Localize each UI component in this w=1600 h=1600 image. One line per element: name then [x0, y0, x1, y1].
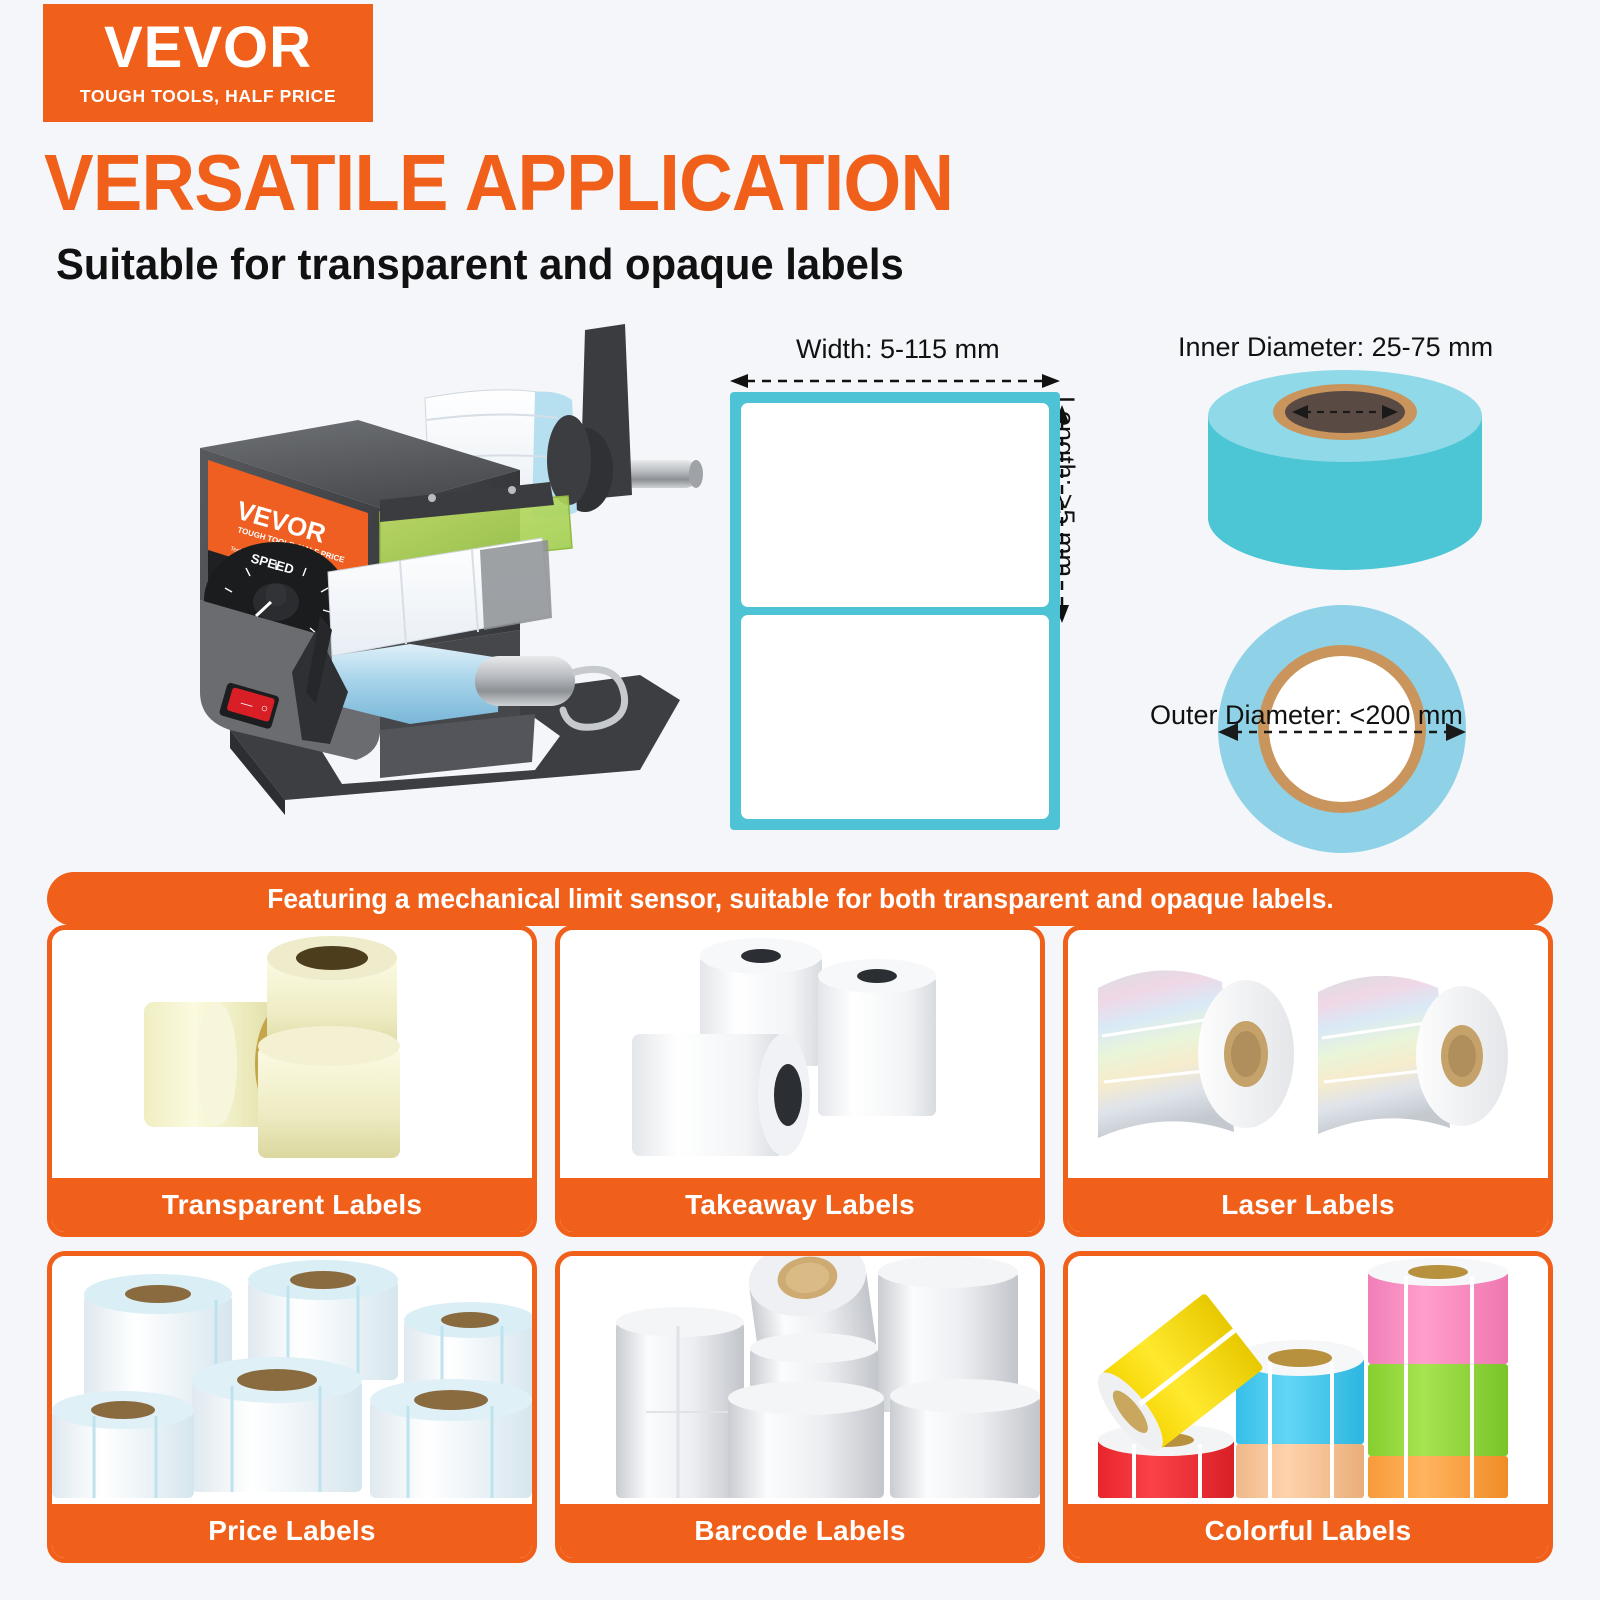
card-caption: Takeaway Labels [560, 1178, 1040, 1232]
logo-tagline: TOUGH TOOLS, HALF PRICE [80, 86, 336, 107]
laser-labels-image [1068, 930, 1548, 1178]
laser-roll-left [1098, 970, 1294, 1138]
card-barcode-labels[interactable]: Barcode Labels [555, 1251, 1045, 1563]
card-caption: Price Labels [52, 1504, 532, 1558]
brand-logo: VEVOR TOUGH TOOLS, HALF PRICE [43, 4, 373, 122]
takeaway-labels-image [560, 930, 1040, 1178]
tape-roll-3d-illustration [1200, 368, 1490, 583]
card-laser-labels[interactable]: Laser Labels [1063, 925, 1553, 1237]
width-dimension-arrow [730, 374, 1060, 388]
label-dispenser-machine-illustration: VEVOR TOUGH TOOLS, HALF PRICE Technical … [80, 300, 740, 860]
card-caption: Barcode Labels [560, 1504, 1040, 1558]
card-price-labels[interactable]: Price Labels [47, 1251, 537, 1563]
feature-banner-text: Featuring a mechanical limit sensor, sui… [267, 883, 1334, 915]
price-labels-image [52, 1256, 532, 1504]
page-title: VERSATILE APPLICATION [44, 143, 953, 223]
card-caption: Transparent Labels [52, 1178, 532, 1232]
outer-diameter-text: Outer Diameter: <200 mm [1150, 700, 1463, 731]
label-sheet-graphic [730, 392, 1060, 830]
page-subtitle: Suitable for transparent and opaque labe… [56, 243, 904, 287]
label-size-diagram: Width: 5-115 mm Length: >5 mm [700, 330, 1140, 850]
card-caption: Colorful Labels [1068, 1504, 1548, 1558]
label-type-grid: Transparent Labels [47, 925, 1553, 1563]
logo-wordmark: VEVOR [104, 19, 312, 77]
card-caption: Laser Labels [1068, 1178, 1548, 1232]
inner-diameter-text: Inner Diameter: 25-75 mm [1178, 332, 1493, 363]
label-width-text: Width: 5-115 mm [796, 334, 1000, 365]
barcode-labels-image [560, 1256, 1040, 1504]
card-takeaway-labels[interactable]: Takeaway Labels [555, 925, 1045, 1237]
card-transparent-labels[interactable]: Transparent Labels [47, 925, 537, 1237]
colorful-labels-image [1068, 1256, 1548, 1504]
laser-roll-right [1318, 976, 1508, 1134]
feature-banner: Featuring a mechanical limit sensor, sui… [47, 872, 1553, 926]
label-pane-top [741, 403, 1049, 607]
transparent-labels-image [52, 930, 532, 1178]
roll-diameter-diagram: Inner Diameter: 25-75 mm Outer Diameter:… [1140, 330, 1570, 860]
label-pane-bottom [741, 615, 1049, 819]
card-colorful-labels[interactable]: Colorful Labels [1063, 1251, 1553, 1563]
